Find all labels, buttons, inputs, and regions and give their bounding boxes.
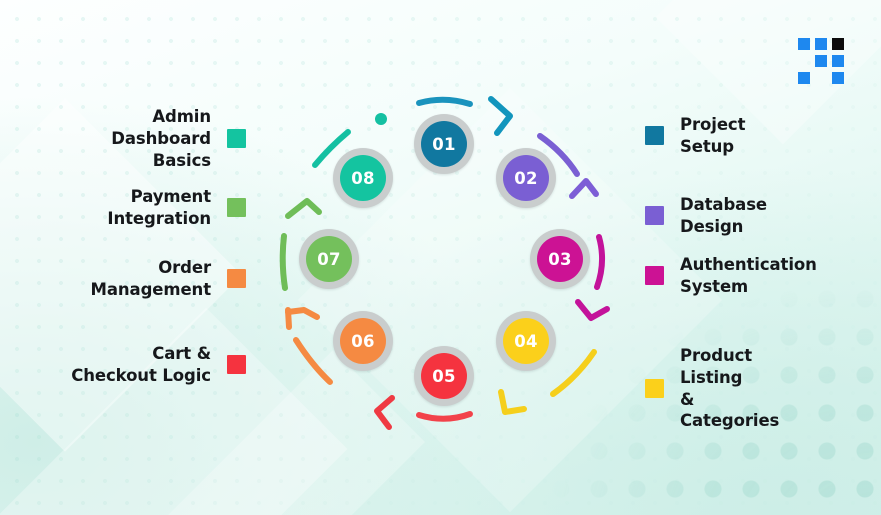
logo-cell-7 xyxy=(798,72,810,84)
process-wheel: 01 02 03 04 05 06 07 08 xyxy=(268,86,613,431)
legend-color-swatch xyxy=(645,126,664,145)
wheel-node-08[interactable]: 08 xyxy=(333,148,393,208)
legend-item-payment-integration[interactable]: Payment Integration xyxy=(50,186,246,230)
logo-cell-2 xyxy=(815,38,827,50)
wheel-node-06[interactable]: 06 xyxy=(333,311,393,371)
wheel-node-number: 06 xyxy=(340,318,386,364)
legend-item-admin-dashboard-basics[interactable]: Admin Dashboard Basics xyxy=(50,106,246,171)
legend-color-swatch xyxy=(645,379,664,398)
wheel-node-number: 02 xyxy=(503,155,549,201)
legend-color-swatch xyxy=(645,266,664,285)
wheel-node-number: 03 xyxy=(537,236,583,282)
logo-cell-3 xyxy=(832,38,844,50)
legend-item-label: Cart & Checkout Logic xyxy=(71,343,211,387)
wheel-node-number: 04 xyxy=(503,318,549,364)
legend-color-swatch xyxy=(227,129,246,148)
logo-cell-1 xyxy=(798,38,810,50)
logo-cell-5 xyxy=(815,55,827,67)
legend-color-swatch xyxy=(227,198,246,217)
wheel-node-number: 05 xyxy=(421,353,467,399)
logo-cell-4 xyxy=(798,55,810,67)
wheel-node-04[interactable]: 04 xyxy=(496,311,556,371)
legend-item-authentication-system[interactable]: Authentication System xyxy=(645,254,817,298)
legend-color-swatch xyxy=(227,355,246,374)
legend-item-label: Payment Integration xyxy=(107,186,211,230)
legend-item-label: Product Listing & Categories xyxy=(680,345,779,432)
wheel-node-number: 01 xyxy=(421,121,467,167)
legend-color-swatch xyxy=(645,206,664,225)
wheel-node-02[interactable]: 02 xyxy=(496,148,556,208)
wheel-node-01[interactable]: 01 xyxy=(414,114,474,174)
pixel-dot-logo xyxy=(798,38,844,84)
wheel-node-05[interactable]: 05 xyxy=(414,346,474,406)
legend-item-cart-checkout-logic[interactable]: Cart & Checkout Logic xyxy=(50,343,246,387)
legend-item-label: Database Design xyxy=(680,194,767,238)
logo-cell-8 xyxy=(815,72,827,84)
legend-item-label: Project Setup xyxy=(680,114,745,158)
wheel-node-number: 07 xyxy=(306,236,352,282)
legend-color-swatch xyxy=(227,269,246,288)
wheel-node-03[interactable]: 03 xyxy=(530,229,590,289)
legend-item-order-management[interactable]: Order Management xyxy=(50,257,246,301)
legend-item-product-listing-categories[interactable]: Product Listing & Categories xyxy=(645,345,779,432)
legend-item-label: Order Management xyxy=(91,257,211,301)
legend-item-project-setup[interactable]: Project Setup xyxy=(645,114,745,158)
legend-item-label: Authentication System xyxy=(680,254,817,298)
wheel-node-07[interactable]: 07 xyxy=(299,229,359,289)
wheel-node-number: 08 xyxy=(340,155,386,201)
logo-cell-9 xyxy=(832,72,844,84)
logo-cell-6 xyxy=(832,55,844,67)
legend-item-label: Admin Dashboard Basics xyxy=(50,106,211,171)
legend-item-database-design[interactable]: Database Design xyxy=(645,194,767,238)
infographic-canvas: Admin Dashboard Basics Payment Integrati… xyxy=(0,0,881,515)
